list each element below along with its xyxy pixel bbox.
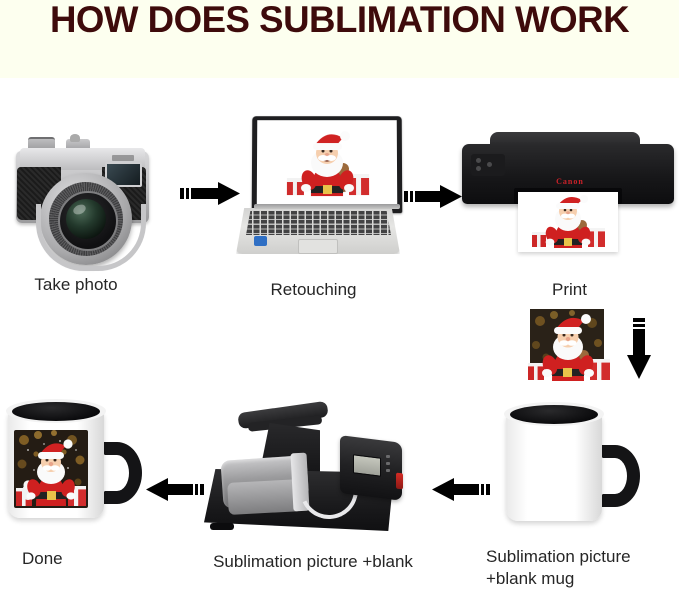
step-label-sublimation-picture-blank: Sublimation picture +blank — [178, 551, 448, 573]
blank-mug-icon — [506, 403, 646, 528]
arrow-laptop-to-printer — [404, 183, 462, 209]
heat-press-foot — [210, 523, 234, 530]
camera-badge — [112, 155, 134, 161]
step-label-sublimation-picture-blank-mug: Sublimation picture +blank mug — [486, 546, 676, 590]
santa-transfer-icon — [516, 309, 619, 385]
heat-press-indicator-2 — [386, 462, 390, 465]
step-label-done: Done — [0, 548, 140, 570]
page-title: HOW DOES SUBLIMATION WORK — [3, 0, 675, 42]
santa-transfer-image — [516, 309, 619, 385]
finished-mug-artwork — [14, 430, 88, 508]
santa-image-on-screen — [257, 120, 397, 206]
step-label-print: Print — [492, 279, 647, 301]
step-label-retouching: Retouching — [236, 279, 391, 301]
camera-lens-hood — [36, 204, 146, 271]
blank-mug-interior — [510, 405, 598, 424]
laptop-lid — [252, 116, 403, 213]
laptop-screen — [257, 120, 397, 206]
step-label-take-photo: Take photo — [0, 274, 152, 296]
laptop-keyboard-rows — [246, 211, 391, 235]
sublimation-infographic: HOW DOES SUBLIMATION WORK Take photo — [0, 0, 679, 603]
heat-press-indicator-1 — [386, 455, 390, 458]
heat-press-icon — [200, 403, 405, 543]
finished-mug-interior — [12, 402, 100, 421]
printer-button-stop — [476, 166, 481, 171]
finished-mug-icon — [8, 400, 148, 525]
arrow-printer-to-transfer — [625, 318, 653, 380]
arrow-camera-to-laptop — [180, 180, 240, 206]
laptop-touchpad — [298, 239, 338, 254]
heat-press-indicator-3 — [386, 469, 390, 472]
laptop-hinge — [254, 204, 400, 209]
arrow-press-to-done — [146, 476, 204, 502]
blank-mug-body — [506, 413, 602, 521]
printer-output-paper — [518, 192, 618, 252]
printer-button-power — [476, 158, 481, 163]
camera-icon — [8, 118, 158, 263]
arrow-mug-to-press — [432, 476, 490, 502]
santa-printed-image — [518, 192, 618, 252]
camera-shutter-button — [70, 134, 80, 142]
santa-mug-print — [14, 430, 88, 508]
printer-button-color — [487, 162, 492, 167]
laptop-icon — [232, 116, 402, 256]
heat-press-power-switch — [396, 473, 403, 490]
printer-brand-label: Canon — [548, 177, 592, 186]
laptop-processor-sticker — [254, 236, 267, 246]
heat-press-display — [353, 454, 381, 476]
printer-icon: Canon — [462, 130, 674, 258]
